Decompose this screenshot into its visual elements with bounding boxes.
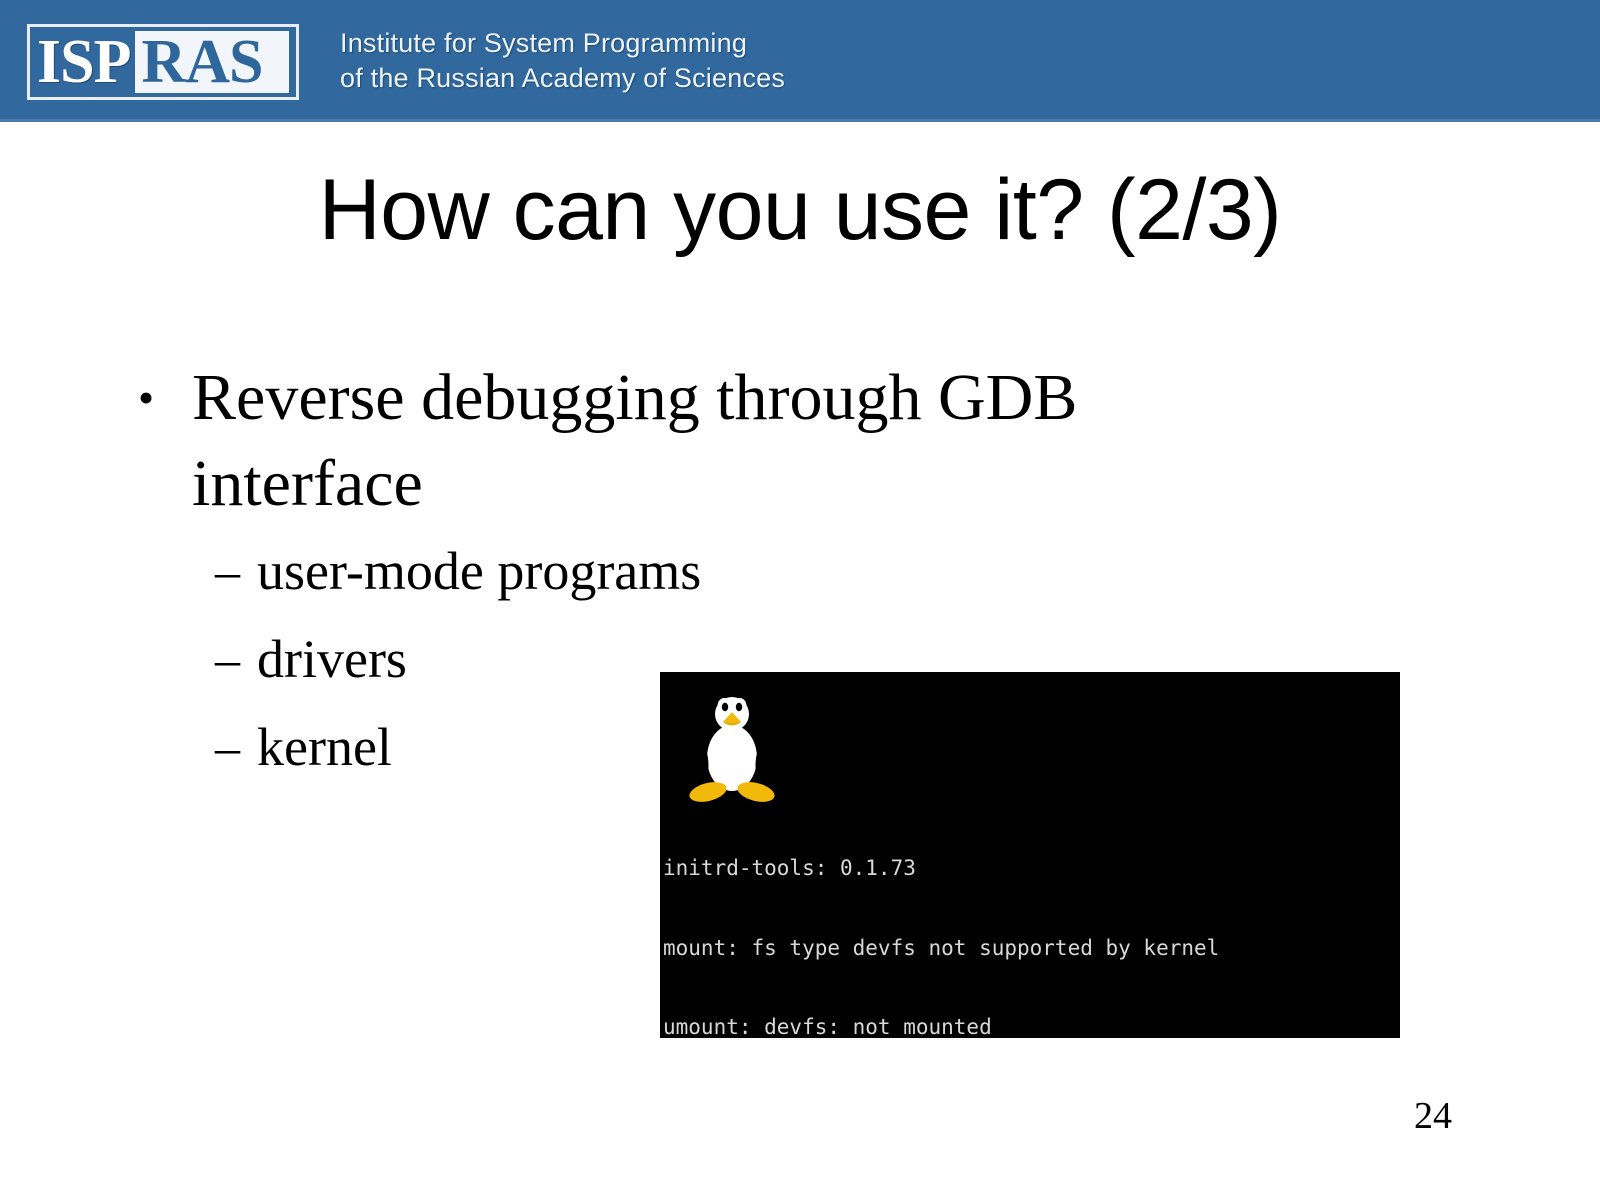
logo-ras-box: RAS [135,31,289,93]
logo-ras-text: RAS [141,31,262,93]
ispras-logo-inner: ISP RAS [30,27,296,97]
ispras-logo: ISP RAS [27,24,299,100]
terminal-screenshot: initrd-tools: 0.1.73 mount: fs type devf… [660,672,1400,1038]
console-line: initrd-tools: 0.1.73 [663,855,1400,882]
bullet-marker-icon: • [138,355,154,441]
header-band-underline [0,119,1600,122]
header-band: ISP RAS Institute for System Programming… [0,0,1600,122]
institute-line-2: of the Russian Academy of Sciences [340,61,785,96]
bullet-level2-text: user-mode programs [257,541,701,601]
dash-marker-icon: – [215,703,240,791]
institute-line-1: Institute for System Programming [340,26,785,61]
bullet-level2-text: drivers [257,629,407,689]
bullet-level1-text: Reverse debugging through GDB interface [192,361,1077,520]
console-line: mount: fs type devfs not supported by ke… [663,935,1400,962]
dash-marker-icon: – [215,615,240,703]
dash-marker-icon: – [215,527,240,615]
institute-name: Institute for System Programming of the … [340,26,785,96]
tux-penguin-icon [678,678,786,806]
page-number: 24 [1414,1094,1452,1138]
slide-title: How can you use it? (2/3) [0,160,1600,260]
bullet-level1: • Reverse debugging through GDB interfac… [130,355,1252,527]
bullet-level2-user-mode-programs: – user-mode programs [215,527,1600,615]
logo-isp-text: ISP [37,31,130,93]
console-output: initrd-tools: 0.1.73 mount: fs type devf… [663,802,1400,1038]
bullet-level2-text: kernel [257,717,392,777]
console-line: umount: devfs: not mounted [663,1014,1400,1038]
